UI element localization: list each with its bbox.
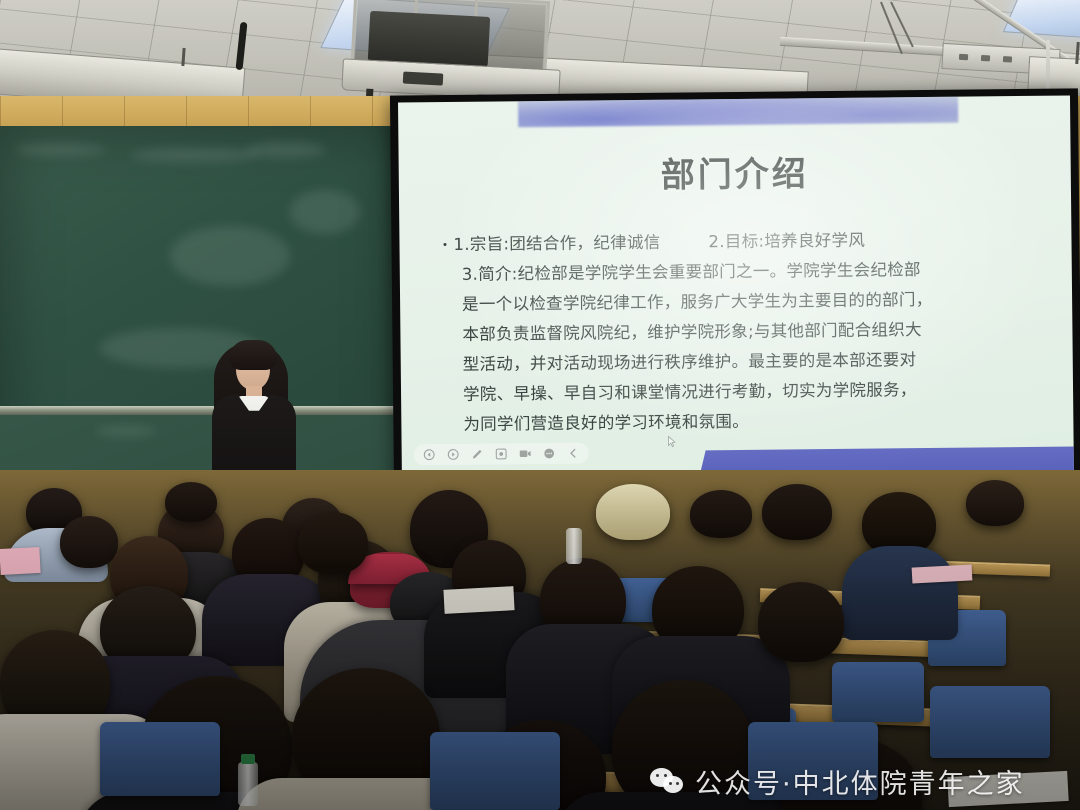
chair	[930, 686, 1050, 758]
watermark-text: 公众号·中北体院青年之家	[695, 762, 1025, 801]
bottle-cap	[241, 754, 255, 764]
notebook	[912, 564, 973, 583]
pen-icon[interactable]	[471, 448, 484, 461]
student-head	[165, 482, 217, 522]
student-uniform-body	[842, 546, 958, 640]
student-head	[690, 490, 752, 538]
slide-paragraph-line: 为同学们营造良好的学习环境和氛围。	[463, 404, 1049, 440]
classroom-photo-scene: 部门介绍 1.宗旨:团结合作，纪律诚信 2.目标:培养良好学风 3.简介:纪检部…	[0, 0, 1080, 810]
projection-screen-frame: 部门介绍 1.宗旨:团结合作，纪律诚信 2.目标:培养良好学风 3.简介:纪检部…	[390, 88, 1080, 493]
wechat-logo-icon	[650, 768, 684, 796]
projector-lens	[403, 71, 444, 85]
presenter-hair-front	[229, 340, 277, 370]
slide-bullet-item-2: 2.目标:培养良好学风	[708, 226, 865, 258]
video-icon[interactable]	[519, 447, 532, 460]
slide-paragraph: 3.简介:纪检部是学院学生会重要部门之一。学院学生会纪检部 是一个以检查学院纪律…	[462, 254, 1050, 440]
more-options-icon[interactable]	[543, 447, 556, 460]
slide-decoration-top	[518, 95, 958, 127]
watermark: 公众号·中北体院青年之家	[650, 762, 1025, 801]
water-bottle	[238, 762, 258, 806]
paper-sheet	[443, 586, 514, 614]
mouse-cursor	[668, 436, 677, 449]
student-head	[758, 582, 844, 662]
student-head	[298, 512, 368, 574]
next-slide-icon[interactable]	[447, 448, 460, 461]
slide-body: 1.宗旨:团结合作，纪律诚信 2.目标:培养良好学风 3.简介:纪检部是学院学生…	[443, 224, 1049, 440]
presentation-toolbar[interactable]	[414, 443, 589, 466]
student-head-blonde	[596, 484, 670, 540]
laser-pointer-icon[interactable]	[495, 447, 508, 460]
chair	[832, 662, 924, 722]
projection-screen[interactable]: 部门介绍 1.宗旨:团结合作，纪律诚信 2.目标:培养良好学风 3.简介:纪检部…	[398, 95, 1074, 483]
projector-body	[368, 11, 490, 67]
student-head	[966, 480, 1024, 526]
slide-bullet-item-1: 1.宗旨:团结合作，纪律诚信	[453, 228, 660, 260]
water-bottle	[566, 528, 582, 564]
collapse-chevron-icon[interactable]	[567, 447, 580, 460]
slide-title: 部门介绍	[399, 143, 1071, 199]
chair	[430, 732, 560, 810]
previous-slide-icon[interactable]	[423, 448, 436, 461]
student-head	[762, 484, 832, 540]
notebook	[0, 547, 41, 575]
student-head	[60, 516, 118, 568]
student-audience	[0, 470, 1080, 810]
chair	[100, 722, 220, 796]
bullet-dot-icon	[443, 243, 446, 246]
